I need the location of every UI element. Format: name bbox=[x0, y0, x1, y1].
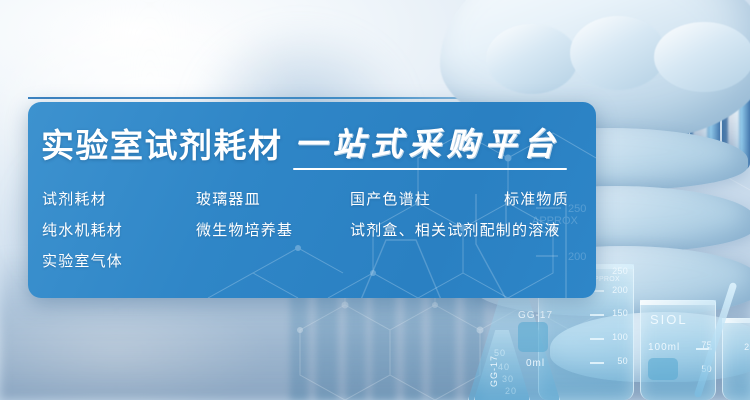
category-item-reagent-consumables[interactable]: 试剂耗材 bbox=[42, 188, 196, 209]
beaker-tick bbox=[590, 314, 604, 316]
glove-knuckle bbox=[654, 22, 750, 92]
beaker-brand-siol: SIOL bbox=[650, 312, 688, 327]
glove-knuckle bbox=[486, 24, 578, 94]
flask-brand-gg17: GG-17 bbox=[518, 310, 553, 321]
promotional-banner: 8 . 1 . 0 N I 250 bbox=[0, 0, 750, 400]
headline-main: 实验室试剂耗材 bbox=[41, 129, 283, 162]
beaker-rim bbox=[722, 318, 750, 323]
beaker-grad-100: 100 bbox=[612, 332, 628, 342]
category-item-kits-and-solutions[interactable]: 试剂盒、相关试剂配制的溶液 bbox=[350, 219, 596, 240]
beaker-label-patch bbox=[648, 358, 678, 380]
category-item-laboratory-gases[interactable]: 实验室气体 bbox=[42, 250, 196, 271]
beaker-grad-250: 250 bbox=[744, 342, 750, 352]
category-item-glassware[interactable]: 玻璃器皿 bbox=[196, 188, 350, 209]
category-item-reference-materials[interactable]: 标准物质 bbox=[504, 188, 596, 209]
beaker-grad-50: 50 bbox=[617, 356, 628, 366]
category-item-water-purifier-consumables[interactable]: 纯水机耗材 bbox=[42, 219, 196, 240]
beaker-rim bbox=[640, 300, 716, 305]
beaker-tick bbox=[590, 362, 604, 364]
flask-capacity-0ml: 0ml bbox=[526, 358, 545, 369]
beaker-tick bbox=[590, 338, 604, 340]
small-flask-brand: GG-17 bbox=[489, 355, 499, 387]
beaker-grad-250: 250 bbox=[612, 266, 628, 276]
category-list: 试剂耗材 玻璃器皿 国产色谱柱 标准物质 纯水机耗材 微生物培养基 试剂盒、相关… bbox=[40, 188, 596, 271]
headline: 实验室试剂耗材 一站式采购平台 bbox=[40, 128, 596, 162]
beaker-capacity-100ml: 100ml bbox=[648, 342, 680, 353]
category-item-microbial-culture-media[interactable]: 微生物培养基 bbox=[196, 219, 350, 240]
flask-label-patch bbox=[518, 322, 548, 352]
beaker-glass-body bbox=[722, 318, 750, 400]
beaker-grad-200: 200 bbox=[612, 285, 628, 295]
right-edge-beaker: 250 bbox=[722, 318, 750, 400]
headline-underline bbox=[293, 168, 567, 170]
headline-brush-wrap: 一站式采购平台 bbox=[295, 128, 561, 162]
glove-knuckle bbox=[570, 16, 666, 90]
headline-panel: 250 APPROX 200 实验室试剂耗材 一站式采购平台 试剂耗材 玻璃器皿… bbox=[28, 102, 596, 298]
beaker-grad-150: 150 bbox=[612, 308, 628, 318]
category-item-domestic-chromatography-columns[interactable]: 国产色谱柱 bbox=[350, 188, 504, 209]
headline-brush: 一站式采购平台 bbox=[295, 125, 561, 163]
siol-beaker: SIOL 100ml 75 50 bbox=[640, 300, 716, 400]
